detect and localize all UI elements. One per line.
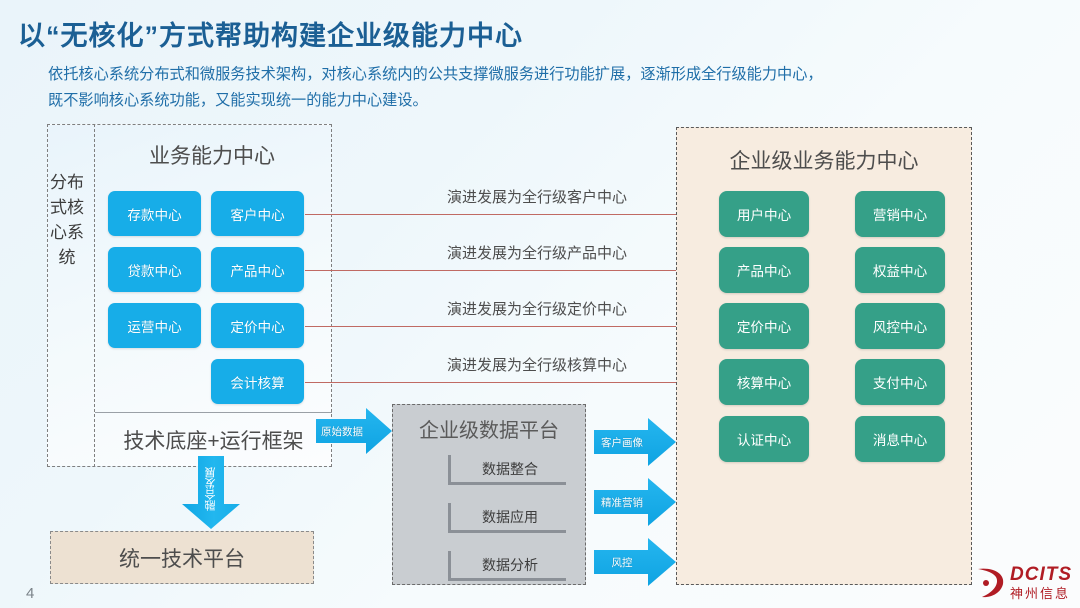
data-platform-item-integration[interactable]: 数据整合 <box>448 455 566 485</box>
evolve-label-accounting: 演进发展为全行级核算中心 <box>392 354 682 375</box>
enterprise-chip-marketing[interactable]: 营销中心 <box>855 191 945 237</box>
unified-tech-platform[interactable]: 统一技术平台 <box>50 531 314 584</box>
enterprise-capability-center-heading: 企业级业务能力中心 <box>676 145 972 175</box>
capability-chip-loan[interactable]: 贷款中心 <box>108 247 201 292</box>
page-title: 以“无核化”方式帮助构建企业级能力中心 <box>18 14 523 53</box>
subtitle-line-1: 依托核心系统分布式和微服务技术架构，对核心系统内的公共支撑微服务进行功能扩展，逐… <box>48 62 988 88</box>
enterprise-chip-payment[interactable]: 支付中心 <box>855 359 945 405</box>
capability-chip-deposit[interactable]: 存款中心 <box>108 191 201 236</box>
outbound-arrow-risk-control-label: 风控 <box>594 538 650 586</box>
evolve-line-accounting <box>305 382 709 383</box>
raw-data-arrow: 原始数据 <box>316 408 392 454</box>
logo-text: DCITS 神州信息 <box>1010 565 1072 600</box>
outbound-arrow-customer-profile: 客户画像 <box>594 418 676 466</box>
enterprise-chip-rights[interactable]: 权益中心 <box>855 247 945 293</box>
evolve-line-product <box>305 270 709 271</box>
data-platform-item-application-label: 数据应用 <box>451 503 569 530</box>
fusion-development-arrow-label: 融合发展 <box>180 456 242 522</box>
enterprise-chip-product[interactable]: 产品中心 <box>719 247 809 293</box>
outbound-arrow-precision-marketing-label: 精准营销 <box>594 478 650 526</box>
outbound-arrow-precision-marketing: 精准营销 <box>594 478 676 526</box>
data-platform-item-analysis-label: 数据分析 <box>451 551 569 578</box>
dcits-logo-icon <box>974 566 1006 600</box>
enterprise-chip-user[interactable]: 用户中心 <box>719 191 809 237</box>
capability-chip-customer[interactable]: 客户中心 <box>211 191 304 236</box>
data-platform-item-integration-label: 数据整合 <box>451 455 569 482</box>
slide-root: 以“无核化”方式帮助构建企业级能力中心 依托核心系统分布式和微服务技术架构，对核… <box>0 0 1080 608</box>
tech-base-separator <box>95 412 332 413</box>
page-subtitle: 依托核心系统分布式和微服务技术架构，对核心系统内的公共支撑微服务进行功能扩展，逐… <box>48 62 988 114</box>
fusion-development-arrow: 融合发展 <box>180 456 242 530</box>
company-logo: DCITS 神州信息 <box>974 565 1072 600</box>
data-platform-item-application[interactable]: 数据应用 <box>448 503 566 533</box>
evolve-line-pricing <box>305 326 709 327</box>
outbound-arrow-risk-control: 风控 <box>594 538 676 586</box>
evolve-line-customer <box>305 214 709 215</box>
logo-text-en: DCITS <box>1010 565 1072 584</box>
capability-chip-pricing[interactable]: 定价中心 <box>211 303 304 348</box>
subtitle-line-2: 既不影响核心系统功能，又能实现统一的能力中心建设。 <box>48 88 988 114</box>
raw-data-arrow-label: 原始数据 <box>316 408 368 454</box>
enterprise-chip-pricing[interactable]: 定价中心 <box>719 303 809 349</box>
capability-chip-accounting[interactable]: 会计核算 <box>211 359 304 404</box>
evolve-label-product: 演进发展为全行级产品中心 <box>392 242 682 263</box>
capability-chip-operation[interactable]: 运营中心 <box>108 303 201 348</box>
enterprise-chip-authentication[interactable]: 认证中心 <box>719 416 809 462</box>
enterprise-chip-accounting[interactable]: 核算中心 <box>719 359 809 405</box>
logo-text-cn: 神州信息 <box>1010 587 1072 600</box>
business-capability-center-heading: 业务能力中心 <box>96 140 328 170</box>
enterprise-data-platform-title: 企业级数据平台 <box>392 414 586 443</box>
business-capability-inner-container <box>94 124 332 467</box>
data-platform-item-analysis[interactable]: 数据分析 <box>448 551 566 581</box>
distributed-core-system-label: 分布式核心系统 <box>48 170 86 270</box>
evolve-label-customer: 演进发展为全行级客户中心 <box>392 186 682 207</box>
page-number: 4 <box>26 585 34 602</box>
enterprise-chip-risk-control[interactable]: 风控中心 <box>855 303 945 349</box>
enterprise-chip-message[interactable]: 消息中心 <box>855 416 945 462</box>
capability-chip-product[interactable]: 产品中心 <box>211 247 304 292</box>
outbound-arrow-customer-profile-label: 客户画像 <box>594 418 650 466</box>
evolve-label-pricing: 演进发展为全行级定价中心 <box>392 298 682 319</box>
